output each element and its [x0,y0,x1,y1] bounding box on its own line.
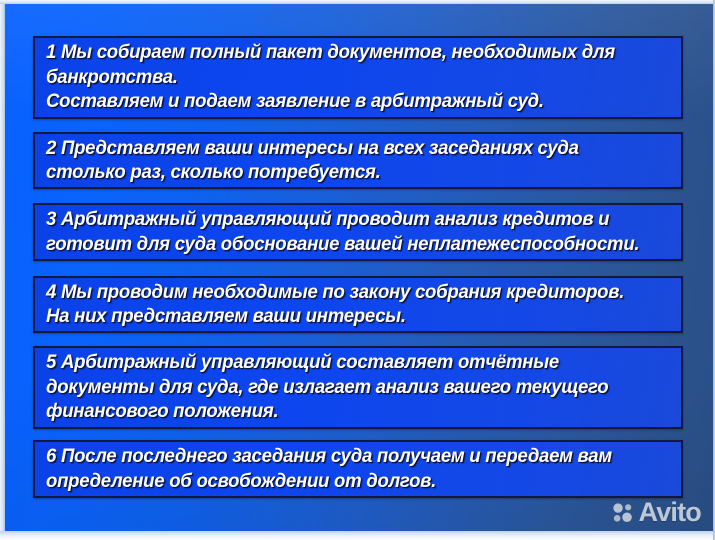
step-3-line-2: готовит для суда обоснование вашей непла… [46,232,644,257]
step-2-line-1: 2 Представляем ваши интересы на всех зас… [46,136,644,161]
step-1-line-1: 1 Мы собираем полный пакет документов, н… [46,40,644,65]
step-2-line-2: столько раз, сколько потребуется. [46,160,644,185]
step-5-line-2: документы для суда, где излагает анализ … [46,375,644,400]
step-box-6: 6 После последнего заседания суда получа… [33,440,683,498]
step-4-line-2: На них представляем ваши интересы. [46,304,644,329]
steps-list: 1 Мы собираем полный пакет документов, н… [0,0,715,540]
frame-strip-left [0,0,5,540]
frame-strip-bottom [0,531,715,540]
step-4-line-1: 4 Мы проводим необходимые по закону собр… [46,280,644,305]
step-6-line-1: 6 После последнего заседания суда получа… [46,444,644,469]
step-1-line-2: банкротства. [46,65,644,90]
step-5-line-1: 5 Арбитражный управляющий составляет отч… [46,350,644,375]
step-box-5: 5 Арбитражный управляющий составляет отч… [33,346,683,429]
step-1-line-3: Составляем и подаем заявление в арбитраж… [46,89,644,114]
step-3-line-1: 3 Арбитражный управляющий проводит анали… [46,207,644,232]
frame-strip-top [0,0,715,4]
step-5-line-3: финансового положения. [46,399,644,424]
step-box-4: 4 Мы проводим необходимые по закону собр… [33,276,683,333]
step-box-1: 1 Мы собираем полный пакет документов, н… [33,36,683,119]
step-box-2: 2 Представляем ваши интересы на всех зас… [33,132,683,189]
poster-canvas: 1 Мы собираем полный пакет документов, н… [0,0,715,540]
step-6-line-2: определение об освобождении от долгов. [46,469,644,494]
step-box-3: 3 Арбитражный управляющий проводит анали… [33,203,683,261]
